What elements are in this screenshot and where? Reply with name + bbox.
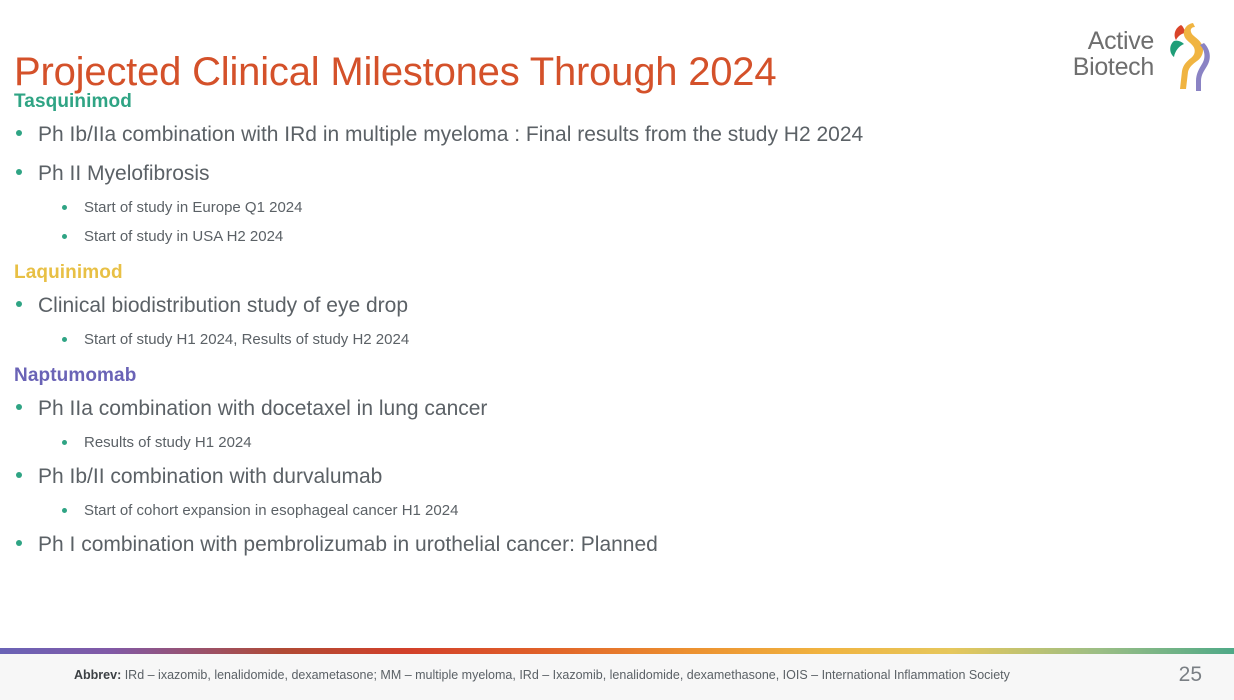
abbrev-label: Abbrev: <box>74 668 121 682</box>
bullet-dot-icon <box>62 205 67 210</box>
bullet-text: Start of study in Europe Q1 2024 <box>84 200 302 215</box>
bullet-item: Ph IIa combination with docetaxel in lun… <box>14 389 1234 428</box>
bullet-dot-icon <box>16 301 22 307</box>
section-heading: Naptumomab <box>14 366 1234 385</box>
sub-bullet-item: Start of study in USA H2 2024 <box>62 222 1234 251</box>
section-naptumomab: Naptumomab Ph IIa combination with docet… <box>0 366 1234 564</box>
active-biotech-figure-icon <box>1160 15 1218 93</box>
bullet-dot-icon <box>16 540 22 546</box>
logo-line-1: Active <box>1073 28 1154 54</box>
logo-wordmark: Active Biotech <box>1073 28 1154 80</box>
section-heading: Tasquinimod <box>14 92 1234 111</box>
bullet-text: Start of cohort expansion in esophageal … <box>84 503 458 518</box>
sub-bullet-item: Start of study H1 2024, Results of study… <box>62 325 1234 354</box>
sub-bullet-item: Start of cohort expansion in esophageal … <box>62 496 1234 525</box>
bullet-dot-icon <box>62 234 67 239</box>
bullet-text: Ph Ib/IIa combination with IRd in multip… <box>38 124 863 145</box>
bullet-text: Ph II Myelofibrosis <box>38 163 210 184</box>
slide-body: Tasquinimod Ph Ib/IIa combination with I… <box>0 92 1234 564</box>
bullet-dot-icon <box>16 130 22 136</box>
bullet-item: Ph II Myelofibrosis <box>14 154 1234 193</box>
bullet-item: Ph I combination with pembrolizumab in u… <box>14 525 1234 564</box>
page-number: 25 <box>1179 663 1202 687</box>
bullet-text: Ph IIa combination with docetaxel in lun… <box>38 398 487 419</box>
section-spacer <box>0 354 1234 366</box>
sub-bullet-item: Start of study in Europe Q1 2024 <box>62 193 1234 222</box>
section-heading: Laquinimod <box>14 263 1234 282</box>
sub-bullet-item: Results of study H1 2024 <box>62 428 1234 457</box>
bullet-text: Start of study H1 2024, Results of study… <box>84 332 409 347</box>
section-laquinimod: Laquinimod Clinical biodistribution stud… <box>0 263 1234 354</box>
bullet-item: Clinical biodistribution study of eye dr… <box>14 286 1234 325</box>
bullet-text: Clinical biodistribution study of eye dr… <box>38 295 408 316</box>
bullet-dot-icon <box>16 169 22 175</box>
bullet-text: Start of study in USA H2 2024 <box>84 229 283 244</box>
abbreviations-note: Abbrev: IRd – ixazomib, lenalidomide, de… <box>74 668 1010 682</box>
slide-footer: Abbrev: IRd – ixazomib, lenalidomide, de… <box>0 654 1234 700</box>
bullet-item: Ph Ib/IIa combination with IRd in multip… <box>14 115 1234 154</box>
section-tasquinimod: Tasquinimod Ph Ib/IIa combination with I… <box>0 92 1234 251</box>
abbrev-text: IRd – ixazomib, lenalidomide, dexametaso… <box>121 668 1010 682</box>
bullet-dot-icon <box>16 472 22 478</box>
company-logo: Active Biotech <box>1068 12 1218 96</box>
bullet-text: Ph I combination with pembrolizumab in u… <box>38 534 658 555</box>
bullet-item: Ph Ib/II combination with durvalumab <box>14 457 1234 496</box>
bullet-dot-icon <box>62 337 67 342</box>
bullet-dot-icon <box>62 508 67 513</box>
bullet-text: Results of study H1 2024 <box>84 435 252 450</box>
page-title: Projected Clinical Milestones Through 20… <box>14 50 776 94</box>
logo-line-2: Biotech <box>1073 54 1154 80</box>
slide: Projected Clinical Milestones Through 20… <box>0 0 1234 700</box>
section-spacer <box>0 251 1234 263</box>
bullet-text: Ph Ib/II combination with durvalumab <box>38 466 382 487</box>
bullet-dot-icon <box>16 404 22 410</box>
bullet-dot-icon <box>62 440 67 445</box>
